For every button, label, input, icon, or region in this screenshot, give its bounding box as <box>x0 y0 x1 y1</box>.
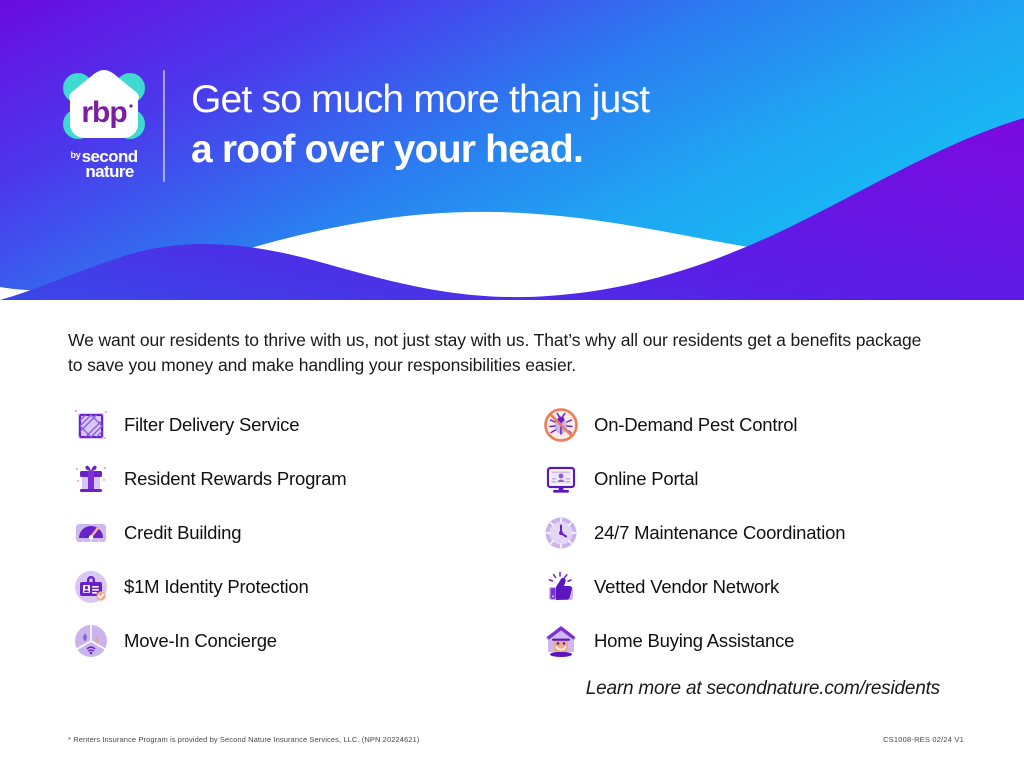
benefit-item-pest-control: On-Demand Pest Control <box>538 398 958 452</box>
page-title: Get so much more than just a roof over y… <box>191 76 649 174</box>
benefit-label: On-Demand Pest Control <box>594 414 797 436</box>
benefits-section: Filter Delivery Service <box>68 398 958 668</box>
benefit-label: Home Buying Assistance <box>594 630 794 652</box>
benefit-label: Move-In Concierge <box>124 630 277 652</box>
logo-by-text: by <box>70 151 80 160</box>
benefit-label: Online Portal <box>594 468 698 490</box>
thumbs-up-icon <box>538 564 584 610</box>
benefit-label: 24/7 Maintenance Coordination <box>594 522 845 544</box>
benefit-label: Credit Building <box>124 522 241 544</box>
no-pest-icon <box>538 402 584 448</box>
id-briefcase-icon <box>68 564 114 610</box>
document-code: CS1008-RES 02/24 V1 <box>883 735 964 744</box>
learn-more-text: Learn more at secondnature.com/residents <box>586 678 940 700</box>
air-filter-icon <box>68 402 114 448</box>
home-check-icon <box>538 618 584 664</box>
disclaimer-text: * Renters Insurance Program is provided … <box>68 735 419 744</box>
brand-logo: rbp bysecondnature <box>58 62 150 187</box>
logo-nature-text: nature <box>82 163 138 180</box>
benefit-item-move-in-concierge: Move-In Concierge <box>68 614 538 668</box>
gift-icon <box>68 456 114 502</box>
vertical-divider <box>163 70 165 182</box>
benefit-item-resident-rewards-program: Resident Rewards Program <box>68 452 538 506</box>
benefit-item-home-buying-assistance: Home Buying Assistance <box>538 614 958 668</box>
desktop-monitor-icon <box>538 456 584 502</box>
headline-line-1: Get so much more than just <box>191 76 649 124</box>
credit-gauge-icon <box>68 510 114 556</box>
benefits-column-right: On-Demand Pest Control <box>538 398 958 668</box>
benefit-label: Filter Delivery Service <box>124 414 299 436</box>
benefits-column-left: Filter Delivery Service <box>68 398 538 668</box>
rbp-logo-mark: rbp <box>58 62 150 150</box>
benefit-item-credit-building: Credit Building <box>68 506 538 560</box>
logo-byline: bysecondnature <box>58 148 150 181</box>
benefit-item-vetted-vendor-network: Vetted Vendor Network <box>538 560 958 614</box>
benefit-item-identity-protection: $1M Identity Protection <box>68 560 538 614</box>
benefit-item-filter-delivery-service: Filter Delivery Service <box>68 398 538 452</box>
benefit-item-maintenance-coordination: 24/7 Maintenance Coordination <box>538 506 958 560</box>
benefit-label: Vetted Vendor Network <box>594 576 779 598</box>
rbp-wordmark: rbp <box>81 96 127 129</box>
utilities-wifi-icon <box>68 618 114 664</box>
marketing-flyer: rbp bysecondnature Get so much more than… <box>0 0 1024 768</box>
benefit-label: $1M Identity Protection <box>124 576 309 598</box>
benefit-item-online-portal: Online Portal <box>538 452 958 506</box>
headline-line-2: a roof over your head. <box>191 126 649 174</box>
benefit-label: Resident Rewards Program <box>124 468 346 490</box>
clock-icon <box>538 510 584 556</box>
intro-paragraph: We want our residents to thrive with us,… <box>68 328 934 378</box>
hero-banner: rbp bysecondnature Get so much more than… <box>0 0 1024 300</box>
